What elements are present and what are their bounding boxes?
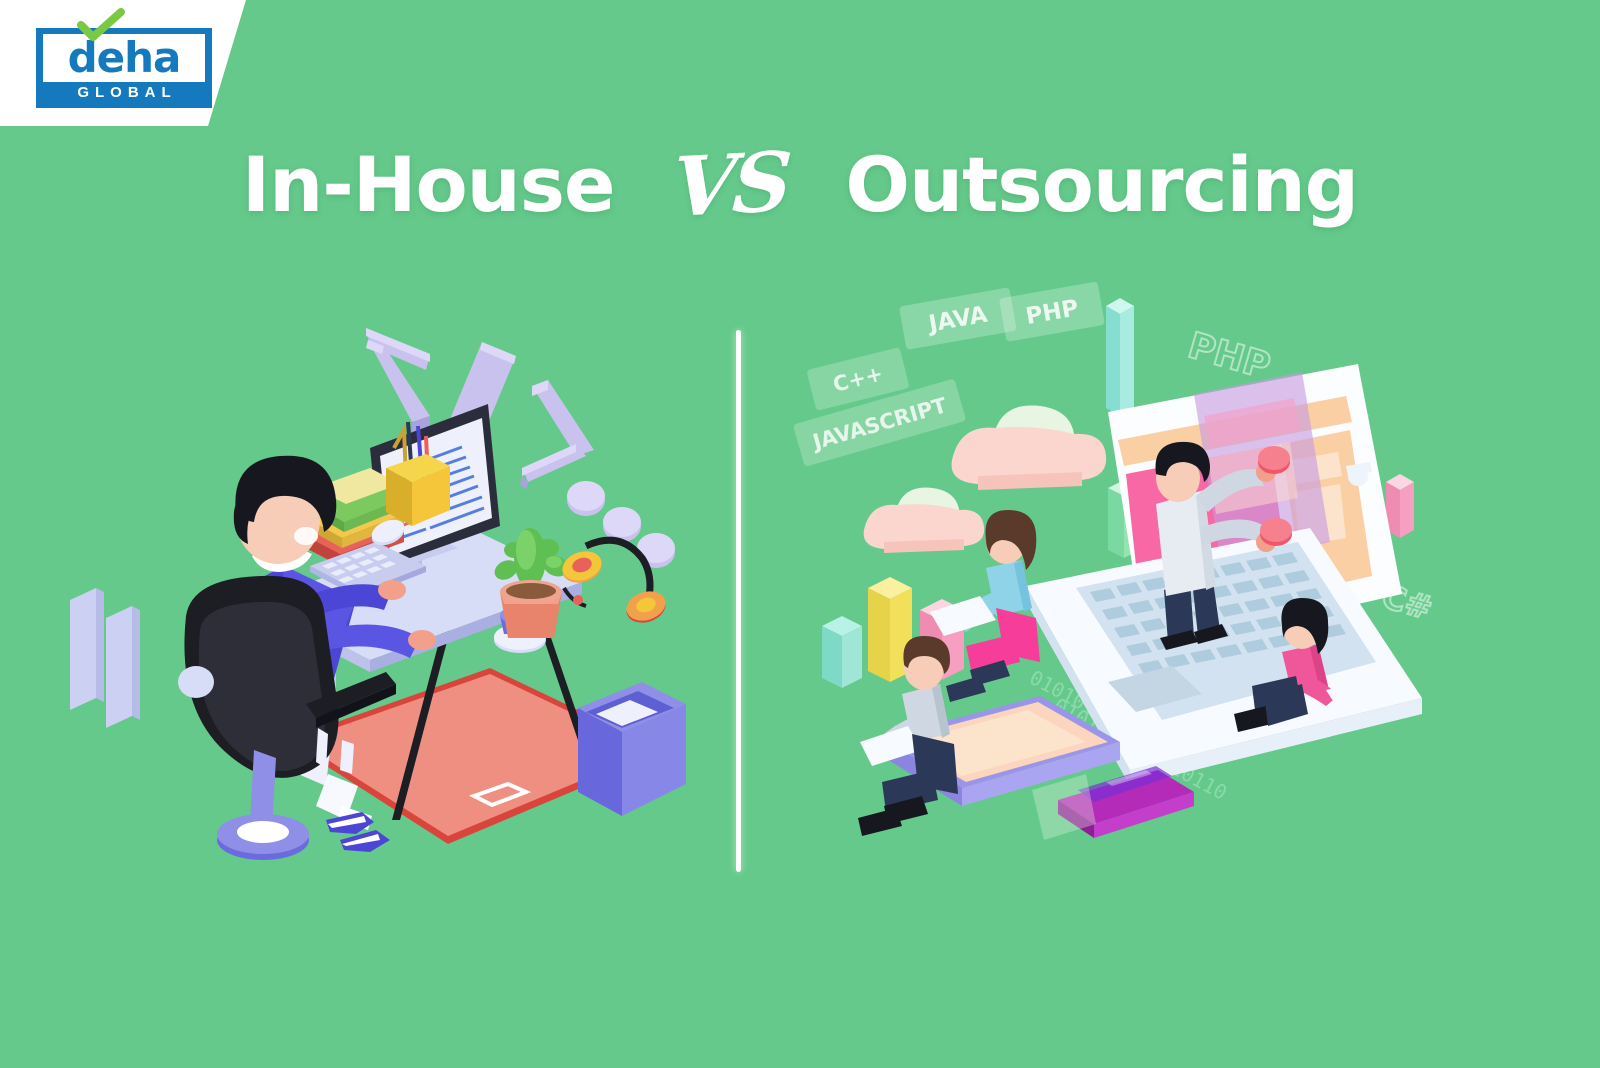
deha-global-logo[interactable]: deha GLOBAL <box>36 28 212 108</box>
headline-outsourcing: Outsourcing <box>845 147 1358 223</box>
logo-wordmark: deha <box>43 32 205 84</box>
logo-subtitle: GLOBAL <box>36 84 212 101</box>
outsourcing-illustration: 0101010101010110 0101010101010110 C++ JA… <box>790 290 1490 890</box>
logo-inner-panel: deha <box>43 34 205 82</box>
vertical-divider <box>736 330 741 872</box>
headline-in-house: In-House <box>242 147 615 223</box>
headline-versus: VS <box>670 141 790 229</box>
trash-bin <box>578 682 686 816</box>
svg-text:PHP: PHP <box>1184 325 1275 387</box>
check-mark-icon <box>78 10 124 40</box>
in-house-illustration <box>70 300 710 880</box>
wall-panels <box>70 588 140 728</box>
headline: In-House VS Outsourcing <box>0 130 1600 240</box>
infographic-canvas: deha GLOBAL In-House VS Outsourcing <box>0 0 1600 1068</box>
